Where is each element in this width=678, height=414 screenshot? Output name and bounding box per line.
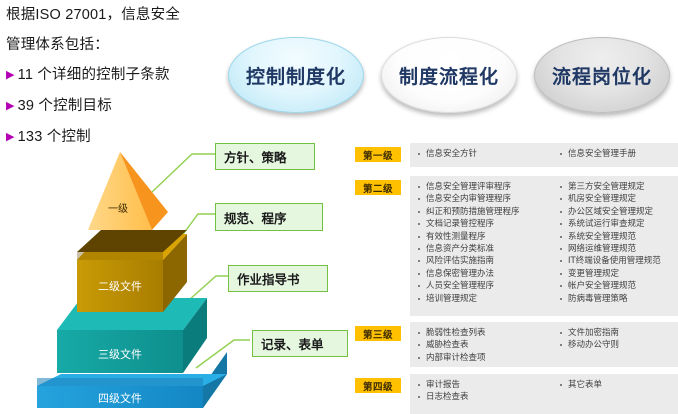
panel-level-3: 脆弱性检查列表威胁检查表内部审计检查项 文件加密指南移动办公守则 bbox=[410, 322, 678, 367]
document-list-item: 日志检查表 bbox=[416, 391, 544, 403]
document-list-item: 信息资产分类标准 bbox=[416, 243, 544, 255]
intro-line-2: ▶11 个详细的控制子条款 bbox=[6, 66, 231, 86]
document-list-item: 有效性测量程序 bbox=[416, 231, 544, 243]
panel-level-3-left-column: 脆弱性检查列表威胁检查表内部审计检查项 bbox=[410, 327, 544, 362]
panel-level-2-left-column: 信息安全管理评审程序信息安全内审管理程序纠正和预防措施管理程序文档记录管控程序有… bbox=[410, 181, 544, 311]
callout-record-form[interactable]: 记录、表单 bbox=[252, 330, 348, 357]
document-list-item: 信息保密管理办法 bbox=[416, 268, 544, 280]
document-list-item: 风险评估实施指南 bbox=[416, 255, 544, 267]
pyramid-level-3-label: 三级文件 bbox=[98, 347, 142, 361]
panel-level-4: 审计报告日志检查表 其它表单 bbox=[410, 374, 678, 414]
ellipse-label: 制度流程化 bbox=[399, 62, 499, 89]
callout-work-instruction[interactable]: 作业指导书 bbox=[228, 265, 328, 292]
intro-line-3: ▶39 个控制目标 bbox=[6, 97, 231, 117]
document-list-item: 变更管理规定 bbox=[558, 268, 678, 280]
document-list-item: 威胁检查表 bbox=[416, 339, 544, 351]
slide-canvas: 根据ISO 27001，信息安全 管理体系包括： ▶11 个详细的控制子条款 ▶… bbox=[0, 0, 678, 414]
panel-level-1-left-column: 信息安全方针 bbox=[410, 148, 544, 162]
document-list-item: IT终端设备使用管理规范 bbox=[558, 255, 678, 267]
panel-level-2-right-column: 第三方安全管理规定机房安全管理规定办公区域安全管理规定系统试运行审查规定系统安全… bbox=[544, 181, 678, 311]
ellipse-institution-process[interactable]: 制度流程化 bbox=[381, 37, 517, 113]
badge-label: 第一级 bbox=[363, 148, 393, 162]
triangle-bullet-icon: ▶ bbox=[6, 128, 15, 147]
panel-level-4-right-column: 其它表单 bbox=[544, 379, 678, 409]
badge-level-1[interactable]: 第一级 bbox=[355, 147, 401, 162]
document-list-item: 办公区域安全管理规定 bbox=[558, 206, 678, 218]
document-list-item: 其它表单 bbox=[558, 379, 678, 391]
document-list-item: 内部审计检查项 bbox=[416, 352, 544, 364]
pyramid-level-1[interactable]: 一级 bbox=[88, 152, 168, 230]
pyramid-level-2-label: 二级文件 bbox=[98, 279, 142, 293]
document-list-item: 信息安全管理评审程序 bbox=[416, 181, 544, 193]
panel-level-2: 信息安全管理评审程序信息安全内审管理程序纠正和预防措施管理程序文档记录管控程序有… bbox=[410, 176, 678, 316]
document-list-item: 机房安全管理规定 bbox=[558, 193, 678, 205]
intro-line-text: 11 个详细的控制子条款 bbox=[18, 67, 170, 83]
badge-level-2[interactable]: 第二级 bbox=[355, 180, 401, 195]
document-list-item: 帐户安全管理规范 bbox=[558, 280, 678, 292]
document-list-item: 脆弱性检查列表 bbox=[416, 327, 544, 339]
document-list-item: 文档记录管控程序 bbox=[416, 218, 544, 230]
badge-label: 第三级 bbox=[363, 327, 393, 341]
callout-label: 记录、表单 bbox=[261, 334, 324, 353]
badge-label: 第二级 bbox=[363, 181, 393, 195]
callout-label: 方针、策略 bbox=[224, 147, 287, 166]
document-list-item: 移动办公守则 bbox=[558, 339, 678, 351]
document-list-item: 信息安全内审管理程序 bbox=[416, 193, 544, 205]
pyramid-level-2[interactable]: 二级文件 bbox=[77, 230, 187, 312]
document-list-item: 系统试运行审查规定 bbox=[558, 218, 678, 230]
document-list-item: 系统安全管理规范 bbox=[558, 231, 678, 243]
document-list-item: 文件加密指南 bbox=[558, 327, 678, 339]
document-list-item: 防病毒管理策略 bbox=[558, 293, 678, 305]
intro-line-0: 根据ISO 27001，信息安全 bbox=[6, 6, 231, 25]
document-list-item: 培训管理规定 bbox=[416, 293, 544, 305]
panel-level-1: 信息安全方针 信息安全管理手册 bbox=[410, 143, 678, 167]
pyramid-level-1-label: 一级 bbox=[108, 203, 128, 215]
document-list-item: 信息安全方针 bbox=[416, 148, 544, 160]
intro-line-text: 管理体系包括： bbox=[6, 37, 109, 53]
callout-policy-strategy[interactable]: 方针、策略 bbox=[215, 143, 315, 170]
panel-level-3-right-column: 文件加密指南移动办公守则 bbox=[544, 327, 678, 362]
badge-level-3[interactable]: 第三级 bbox=[355, 326, 401, 341]
callout-label: 规范、程序 bbox=[224, 208, 287, 227]
intro-line-text: 根据ISO 27001，信息安全 bbox=[6, 7, 180, 23]
badge-label: 第四级 bbox=[363, 379, 393, 393]
document-list-item: 人员安全管理程序 bbox=[416, 280, 544, 292]
triangle-bullet-icon: ▶ bbox=[6, 97, 15, 116]
intro-line-text: 39 个控制目标 bbox=[18, 98, 112, 114]
document-list-item: 审计报告 bbox=[416, 379, 544, 391]
callout-standard-procedure[interactable]: 规范、程序 bbox=[215, 203, 323, 231]
document-list-item: 纠正和预防措施管理程序 bbox=[416, 206, 544, 218]
callout-label: 作业指导书 bbox=[237, 269, 300, 288]
panel-level-4-left-column: 审计报告日志检查表 bbox=[410, 379, 544, 409]
triangle-bullet-icon: ▶ bbox=[6, 66, 15, 85]
ellipse-label: 流程岗位化 bbox=[552, 62, 652, 89]
ellipse-control-institutionalization[interactable]: 控制制度化 bbox=[228, 37, 364, 113]
badge-level-4[interactable]: 第四级 bbox=[355, 378, 401, 393]
document-list-item: 第三方安全管理规定 bbox=[558, 181, 678, 193]
ellipse-label: 控制制度化 bbox=[246, 62, 346, 89]
intro-line-1: 管理体系包括： bbox=[6, 36, 231, 55]
ellipse-process-position[interactable]: 流程岗位化 bbox=[534, 37, 670, 113]
document-list-item: 网络运维管理规范 bbox=[558, 243, 678, 255]
document-hierarchy-pyramid: 四级文件 三级文件 二级文件 一级 bbox=[20, 130, 250, 414]
pyramid-level-4-label: 四级文件 bbox=[98, 391, 142, 405]
document-list-item: 信息安全管理手册 bbox=[558, 148, 678, 160]
panel-level-1-right-column: 信息安全管理手册 bbox=[544, 148, 678, 162]
